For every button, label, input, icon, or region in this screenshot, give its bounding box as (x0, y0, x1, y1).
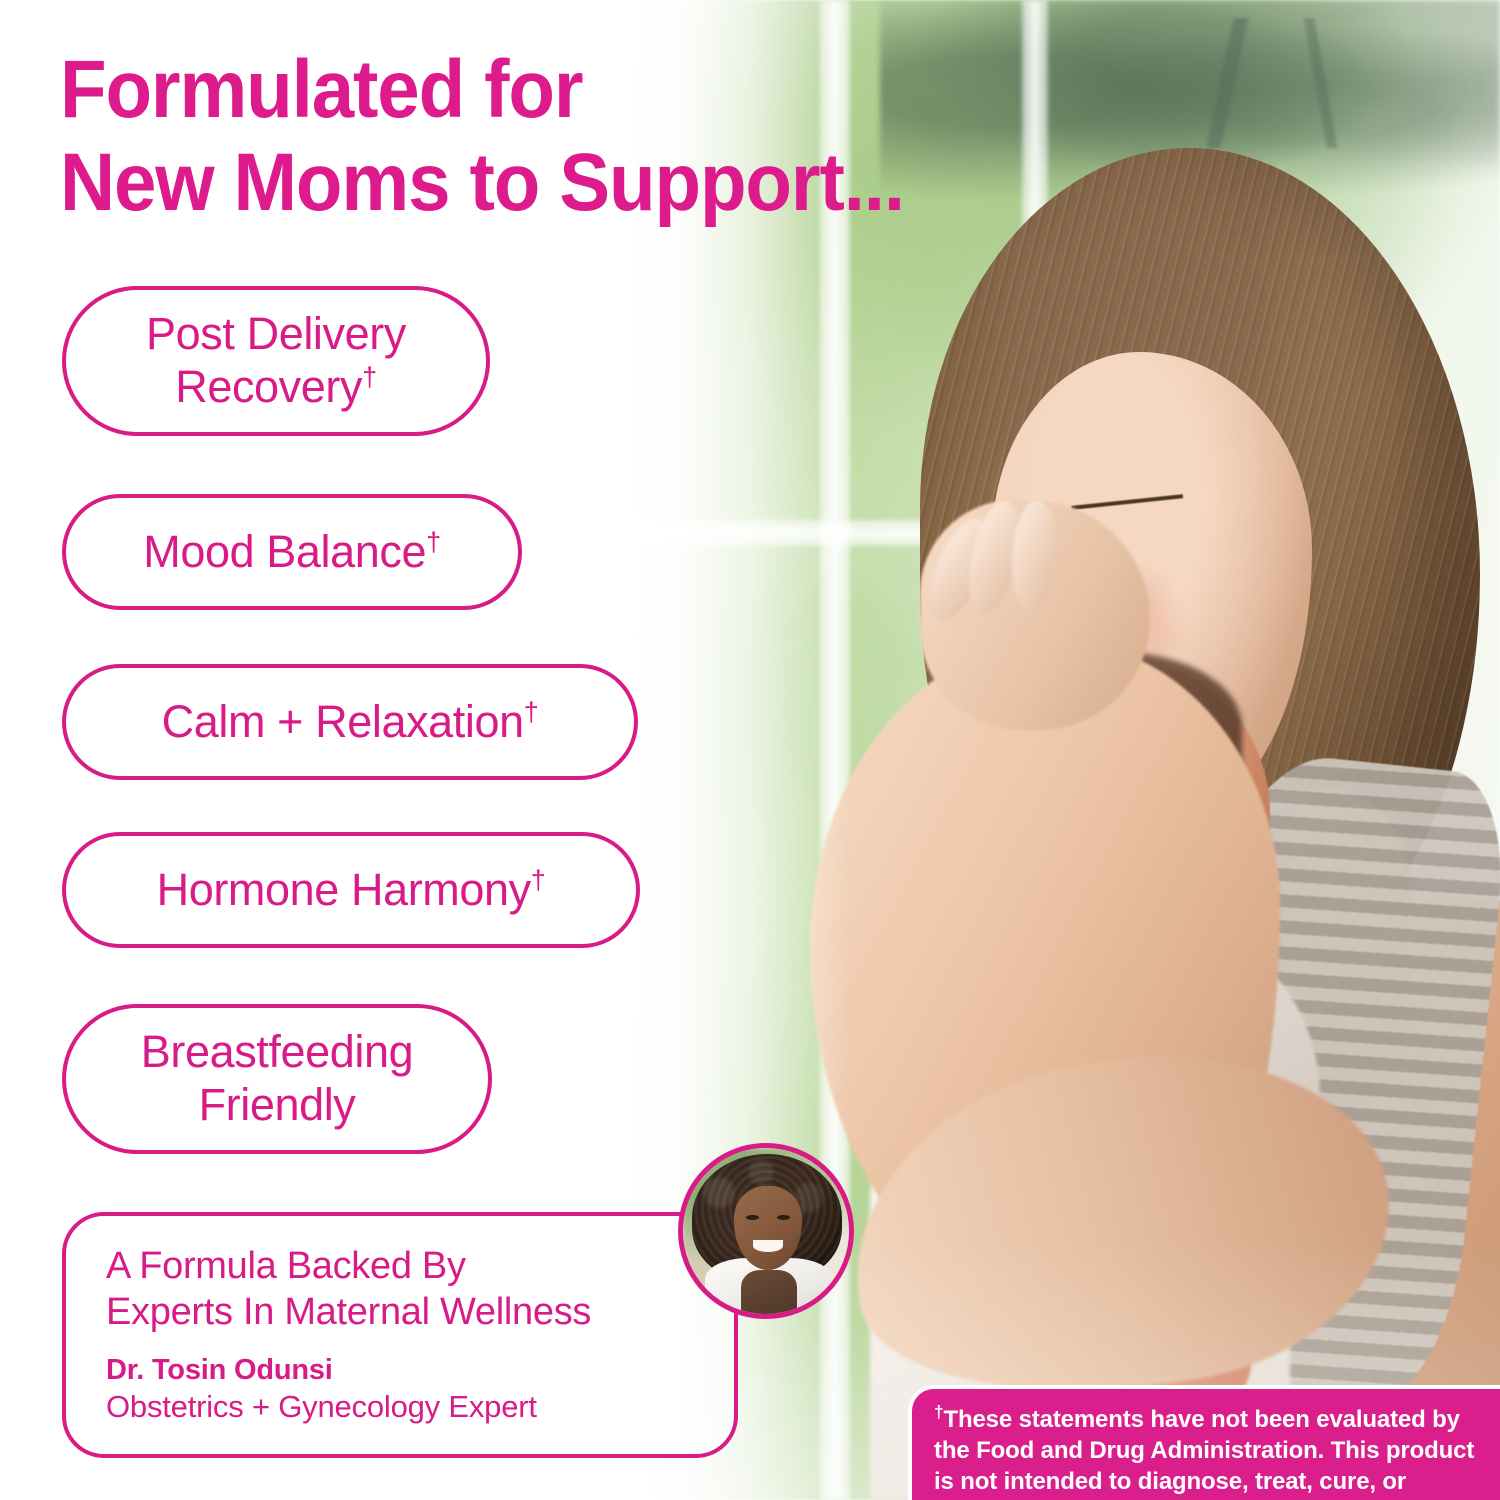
avatar-smile (753, 1240, 783, 1252)
benefit-pill-label: Hormone Harmony† (157, 864, 546, 917)
benefit-pill-hormone-harmony[interactable]: Hormone Harmony† (62, 832, 640, 948)
avatar-shirt (741, 1270, 797, 1319)
expert-name: Dr. Tosin Odunsi (106, 1354, 700, 1387)
page-title: Formulated for New Moms to Support... (60, 44, 990, 229)
avatar (678, 1143, 854, 1319)
dagger-symbol: † (524, 697, 539, 727)
benefit-pill-label: Breastfeeding Friendly (141, 1026, 414, 1131)
benefit-pill-breastfeeding-friendly[interactable]: Breastfeeding Friendly (62, 1004, 492, 1154)
benefit-pill-mood-balance[interactable]: Mood Balance† (62, 494, 522, 610)
benefit-pill-label: Post Delivery Recovery† (146, 308, 406, 413)
benefit-pill-post-delivery-recovery[interactable]: Post Delivery Recovery† (62, 286, 490, 436)
dagger-symbol: † (531, 865, 546, 895)
expert-card-headline: A Formula Backed By Experts In Maternal … (106, 1244, 700, 1336)
benefit-pill-label: Calm + Relaxation† (162, 696, 539, 749)
benefit-pill-label: Mood Balance† (143, 526, 441, 579)
expert-role: Obstetrics + Gynecology Expert (106, 1389, 700, 1425)
avatar-eye-right (777, 1215, 790, 1220)
dagger-symbol: † (426, 527, 441, 557)
benefit-pill-calm-relaxation[interactable]: Calm + Relaxation† (62, 664, 638, 780)
avatar-eye-left (746, 1215, 759, 1220)
fda-disclaimer-banner: †These statements have not been evaluate… (908, 1385, 1500, 1500)
promo-graphic: Formulated for New Moms to Support... Po… (0, 0, 1500, 1500)
disclaimer-text: These statements have not been evaluated… (934, 1406, 1474, 1500)
dagger-symbol: † (362, 362, 377, 392)
tree-branch (1050, 18, 1500, 148)
expert-endorsement-card: A Formula Backed By Experts In Maternal … (62, 1212, 738, 1458)
